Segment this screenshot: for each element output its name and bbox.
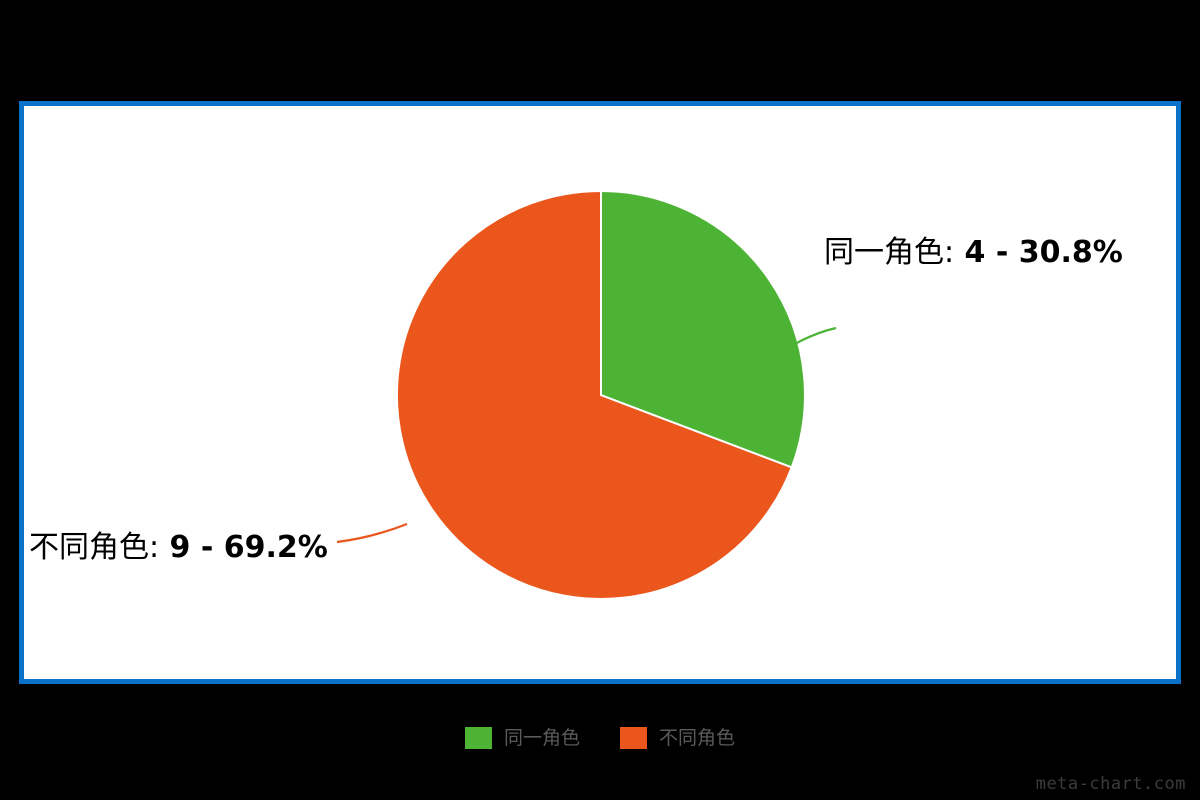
pie-label-same-role-value: 4 - 30.8% xyxy=(954,235,1123,270)
watermark: meta-chart.com xyxy=(1036,774,1186,794)
chart-card xyxy=(19,101,1181,684)
legend-item-different-role[interactable]: 不同角色 xyxy=(620,727,735,749)
legend-label-different-role: 不同角色 xyxy=(659,727,735,749)
legend-swatch-different-role xyxy=(620,727,647,749)
legend-label-same-role: 同一角色 xyxy=(504,727,580,749)
pie-label-same-role-name: 同一角色: xyxy=(824,235,954,270)
chart-legend: 同一角色 不同角色 xyxy=(0,722,1200,754)
pie-label-same-role: 同一角色: 4 - 30.8% xyxy=(824,238,1123,268)
chart-canvas: 同一角色: 4 - 30.8% 不同角色: 9 - 69.2% 同一角色 不同角… xyxy=(0,0,1200,800)
pie-label-different-role-value: 9 - 69.2% xyxy=(159,530,328,565)
legend-swatch-same-role xyxy=(465,727,492,749)
pie-label-different-role-name: 不同角色: xyxy=(29,530,159,565)
pie-chart-plot xyxy=(24,106,1176,679)
legend-item-same-role[interactable]: 同一角色 xyxy=(465,727,580,749)
pie-label-different-role: 不同角色: 9 - 69.2% xyxy=(29,533,328,563)
leader-line-different-role xyxy=(337,524,407,542)
